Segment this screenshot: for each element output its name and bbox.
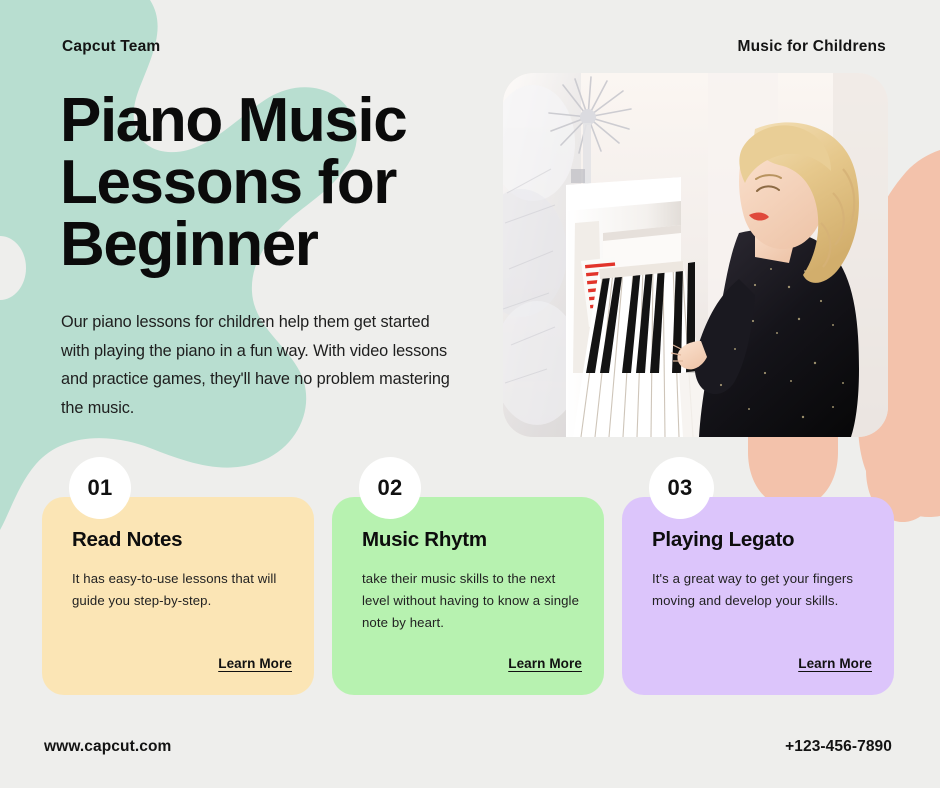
feature-card-3[interactable]: Playing Legato It's a great way to get y… xyxy=(622,497,894,695)
website-label[interactable]: www.capcut.com xyxy=(44,738,171,756)
tagline-label: Music for Childrens xyxy=(738,38,886,56)
card-3-number-badge: 03 xyxy=(649,457,711,519)
card-2-learn-more-link[interactable]: Learn More xyxy=(508,656,582,671)
card-2-number-badge: 02 xyxy=(359,457,421,519)
card-1-description: It has easy-to-use lessons that will gui… xyxy=(72,568,292,612)
teal-blob-lower-shape xyxy=(0,318,66,464)
card-1-content: Read Notes It has easy-to-use lessons th… xyxy=(72,529,292,612)
card-1-number-badge: 01 xyxy=(69,457,131,519)
footer-bar: www.capcut.com +123-456-7890 xyxy=(44,738,892,756)
teal-blob-notch-shape xyxy=(0,236,26,300)
piano-photo xyxy=(503,73,888,437)
page-title: Piano Music Lessons for Beginner xyxy=(60,90,490,276)
feature-card-2[interactable]: Music Rhytm take their music skills to t… xyxy=(332,497,604,695)
card-3-title: Playing Legato xyxy=(652,529,872,552)
card-1-learn-more-link[interactable]: Learn More xyxy=(218,656,292,671)
card-3-content: Playing Legato It's a great way to get y… xyxy=(652,529,872,612)
card-2-number: 02 xyxy=(377,477,402,499)
card-1-title: Read Notes xyxy=(72,529,292,552)
phone-label[interactable]: +123-456-7890 xyxy=(785,738,892,756)
poster-canvas: Capcut Team Music for Childrens Piano Mu… xyxy=(0,0,940,788)
card-2-description: take their music skills to the next leve… xyxy=(362,568,582,634)
card-3-learn-more-link[interactable]: Learn More xyxy=(798,656,872,671)
card-1-number: 01 xyxy=(87,477,112,499)
card-3-number: 03 xyxy=(667,477,692,499)
card-2-title: Music Rhytm xyxy=(362,529,582,552)
card-2-content: Music Rhytm take their music skills to t… xyxy=(362,529,582,634)
hero-description-text: Our piano lessons for children help them… xyxy=(61,308,451,422)
feature-card-1[interactable]: Read Notes It has easy-to-use lessons th… xyxy=(42,497,314,695)
header-bar: Capcut Team Music for Childrens xyxy=(62,34,886,60)
feature-cards: Read Notes It has easy-to-use lessons th… xyxy=(0,457,940,707)
card-3-description: It's a great way to get your fingers mov… xyxy=(652,568,872,612)
hero-description: Our piano lessons for children help them… xyxy=(61,308,451,422)
brand-label: Capcut Team xyxy=(62,38,160,56)
